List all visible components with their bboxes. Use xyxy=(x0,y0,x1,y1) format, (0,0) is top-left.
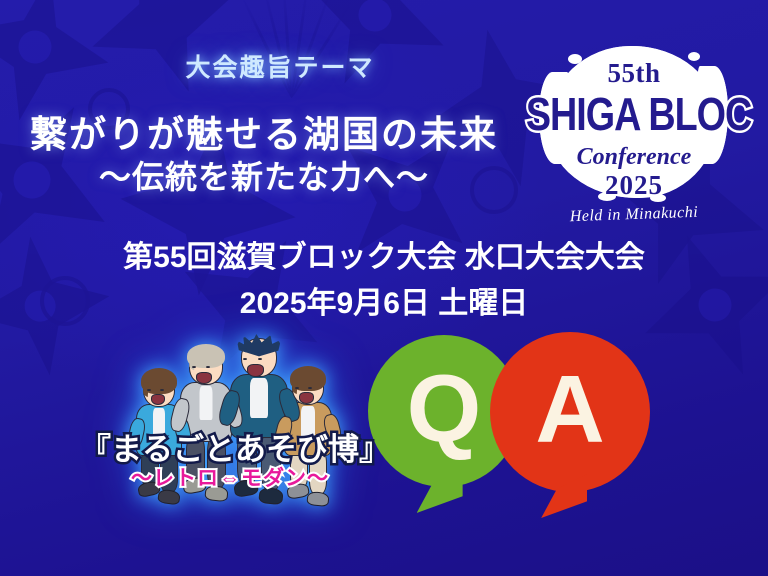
inner-shirt xyxy=(250,378,268,418)
eye xyxy=(243,358,247,360)
answer-bubble: A xyxy=(490,332,650,492)
logo-year: 2025 xyxy=(528,170,740,201)
eye xyxy=(206,366,210,368)
poster-canvas: 大会趣旨テーマ 繋がりが魅せる湖国の未来 〜伝統を新たな力へ〜 第55回滋賀ブロ… xyxy=(0,0,768,576)
hair xyxy=(187,344,225,368)
event-date: 2025年9月6日 土曜日 xyxy=(0,278,768,322)
logo-venue-note: Held in Minakuchi xyxy=(528,202,740,227)
shoe xyxy=(306,491,329,507)
mouth xyxy=(196,372,212,384)
attraction-subtitle: 〜レトロ⇔モダン〜 xyxy=(80,462,380,492)
mouth xyxy=(247,364,264,377)
theme-headline: 繋がりが魅せる湖国の未来 xyxy=(0,104,528,158)
logo-subtitle: Conference xyxy=(528,144,740,171)
answer-bubble-letter: A xyxy=(535,362,604,458)
event-title: 第55回滋賀ブロック大会 水口大会大会 xyxy=(0,232,768,276)
logo-edition: 55th xyxy=(528,58,740,89)
eye xyxy=(160,389,164,391)
inner-shirt xyxy=(200,386,213,420)
question-bubble-letter: Q xyxy=(407,361,482,457)
eye xyxy=(308,387,312,389)
theme-subheadline: 〜伝統を新たな力へ〜 xyxy=(0,152,528,198)
eye xyxy=(295,387,299,389)
eye xyxy=(192,366,196,368)
conference-logo: 55th SHIGA BLOC Conference 2025 Held in … xyxy=(528,46,740,236)
eye xyxy=(147,389,151,391)
theme-label: 大会趣旨テーマ xyxy=(0,48,560,84)
mouth xyxy=(299,392,314,404)
mouth xyxy=(151,394,165,405)
logo-wordmark: SHIGA BLOC xyxy=(526,89,742,142)
eye xyxy=(258,358,262,360)
